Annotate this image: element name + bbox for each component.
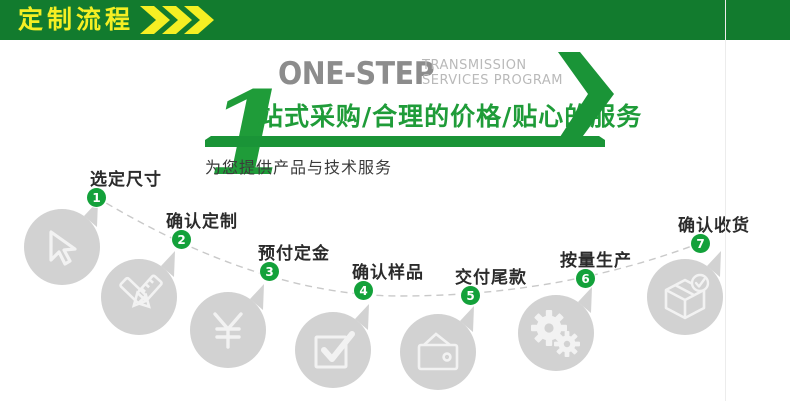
step-badge-1: 1 (87, 188, 106, 207)
step-badge-5: 5 (461, 286, 480, 305)
step-bubble-1 (24, 201, 100, 285)
step-label-5: 交付尾款 (455, 263, 527, 288)
step-bubble-6 (518, 287, 594, 371)
step-label-6: 按量生产 (560, 246, 632, 271)
customization-process-banner: 定制流程 1 ONE-STEP TRANSMISSION SERVICES PR… (0, 0, 790, 401)
step-bubble-4 (295, 304, 371, 388)
right-edge-divider (725, 0, 726, 401)
step-badge-4: 4 (354, 281, 373, 300)
flow-graphics (0, 0, 790, 401)
step-label-7: 确认收货 (678, 211, 750, 236)
step-label-2: 确认定制 (166, 207, 238, 232)
step-bubble-7 (647, 251, 723, 335)
step-label-1: 选定尺寸 (90, 165, 162, 190)
process-flow: 选定尺寸 确认定制 预付定金 确认样品 交付尾款 按量生产 确认收货 1 2 3… (0, 0, 790, 401)
step-bubble-3 (190, 284, 266, 368)
step-label-3: 预付定金 (258, 239, 330, 264)
pencil-ruler-icon (101, 251, 177, 335)
step-badge-7: 7 (691, 234, 710, 253)
step-bubble-2 (101, 251, 177, 335)
step-badge-6: 6 (576, 269, 595, 288)
step-badge-3: 3 (260, 262, 279, 281)
step-label-4: 确认样品 (352, 258, 424, 283)
step-badge-2: 2 (172, 230, 191, 249)
step-bubble-5 (400, 306, 476, 390)
